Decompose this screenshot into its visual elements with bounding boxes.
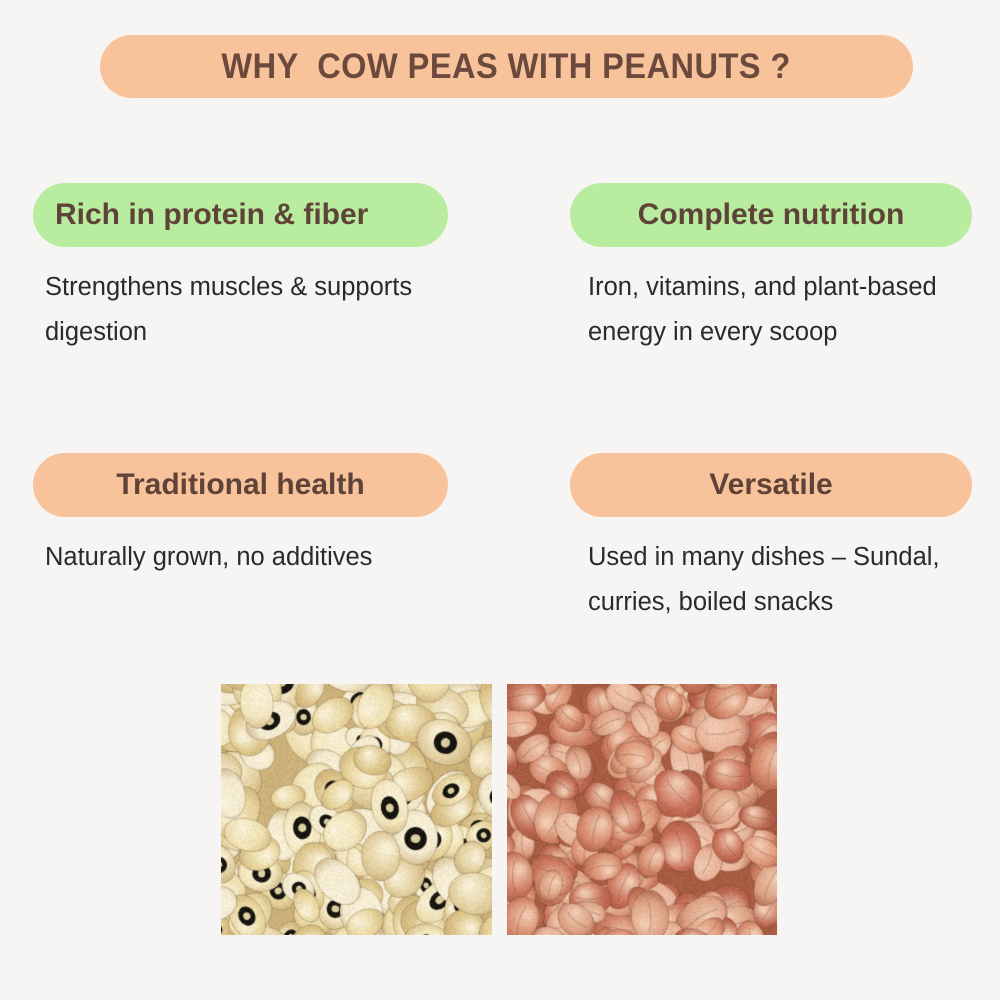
feature-description: Used in many dishes – Sundal, curries, b… [570,535,972,625]
cow-peas-image [221,684,492,935]
feature-badge-complete-nutrition: Complete nutrition [570,183,972,247]
page-title-banner: WHY COW PEAS WITH PEANUTS ? [100,35,913,98]
infographic-page: WHY COW PEAS WITH PEANUTS ? Rich in prot… [0,0,1000,1000]
feature-badge-versatile: Versatile [570,453,972,517]
feature-card-complete-nutrition: Complete nutrition Iron, vitamins, and p… [570,183,972,355]
feature-badge-label: Rich in protein & fiber [55,198,368,232]
feature-card-traditional-health: Traditional health Naturally grown, no a… [33,453,448,580]
feature-description: Naturally grown, no additives [33,535,448,580]
feature-badge-label: Versatile [709,468,832,502]
feature-badge-label: Traditional health [116,468,364,502]
product-photo-row [221,684,777,935]
feature-badge-label: Complete nutrition [638,198,905,232]
peanuts-photo [507,684,778,935]
feature-description: Strengthens muscles & supports digestion [33,265,448,355]
peanuts-image [507,684,778,935]
feature-card-rich-in-protein-fiber: Rich in protein & fiber Strengthens musc… [33,183,448,355]
feature-badge-rich-in-protein-fiber: Rich in protein & fiber [33,183,448,247]
feature-card-versatile: Versatile Used in many dishes – Sundal, … [570,453,972,625]
cow-peas-photo [221,684,492,935]
feature-badge-traditional-health: Traditional health [33,453,448,517]
feature-description: Iron, vitamins, and plant-based energy i… [570,265,972,355]
page-title: WHY COW PEAS WITH PEANUTS ? [222,47,791,87]
